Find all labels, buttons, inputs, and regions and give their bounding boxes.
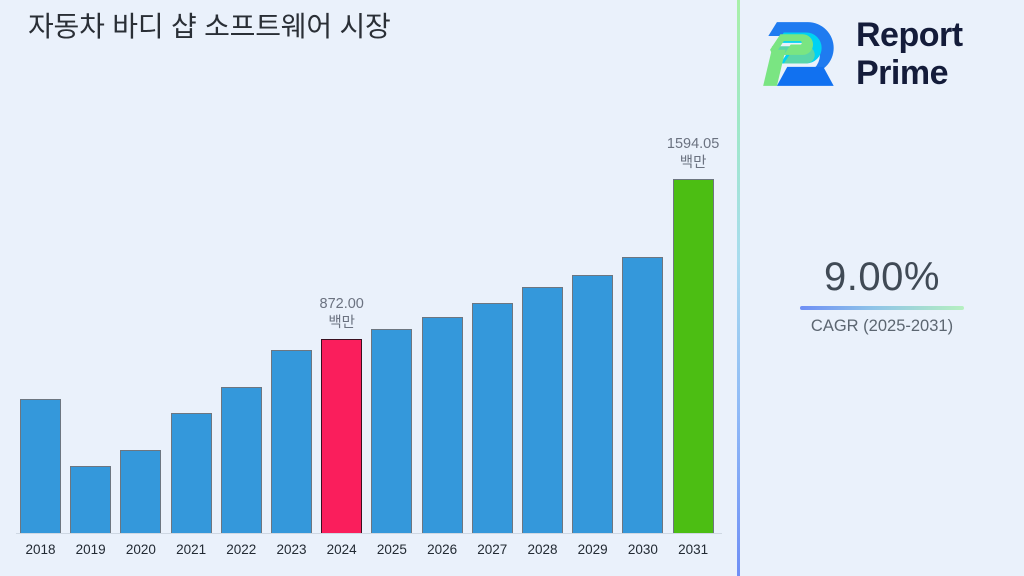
bar-2030: [622, 257, 663, 533]
bar-value-label-2031: 1594.05 백만: [633, 135, 753, 172]
bar-chart-plot: 872.00 백만1594.05 백만 20182019202020212022…: [0, 0, 737, 576]
bar-value-label-2024: 872.00 백만: [282, 295, 402, 332]
bar-2028: [522, 287, 563, 533]
brand-logo: Report Prime: [758, 12, 1018, 96]
brand-wordmark: Report Prime: [856, 18, 963, 90]
info-panel: Report Prime 9.00% CAGR (2025-2031): [740, 0, 1024, 576]
bar-2026: [422, 317, 463, 533]
bar-2019: [70, 466, 111, 533]
chart-page: 자동차 바디 샵 소프트웨어 시장 872.00 백만1594.05 백만 20…: [0, 0, 1024, 576]
bar-2025: [371, 329, 412, 533]
bar-2018: [20, 399, 61, 533]
bar-2020: [120, 450, 161, 533]
bar-2029: [572, 275, 613, 533]
cagr-divider-rule: [800, 306, 964, 310]
cagr-label: CAGR (2025-2031): [740, 317, 1024, 336]
cagr-value: 9.00%: [740, 255, 1024, 300]
bar-2022: [221, 387, 262, 533]
chart-panel: 자동차 바디 샵 소프트웨어 시장 872.00 백만1594.05 백만 20…: [0, 0, 737, 576]
bar-2023: [271, 350, 312, 533]
report-prime-logo-icon: [758, 17, 844, 91]
bar-2024: [321, 339, 362, 533]
bar-2027: [472, 303, 513, 533]
cagr-block: 9.00% CAGR (2025-2031): [740, 255, 1024, 336]
x-tick-2031: 2031: [663, 542, 723, 557]
brand-name-line2: Prime: [856, 56, 963, 90]
bar-2021: [171, 413, 212, 533]
bar-2031: [673, 179, 714, 533]
brand-name-line1: Report: [856, 18, 963, 52]
x-axis-line: [16, 533, 722, 534]
